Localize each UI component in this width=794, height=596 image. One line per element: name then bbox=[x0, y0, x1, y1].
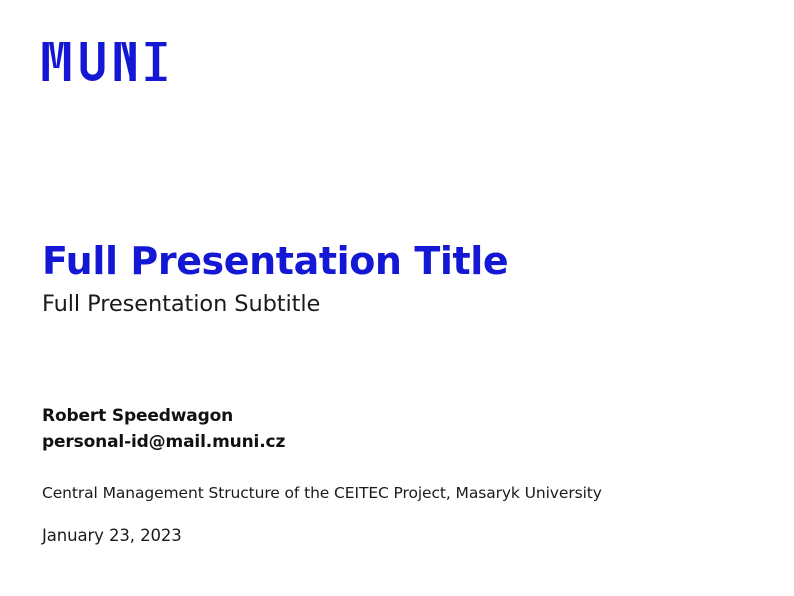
affiliation-line: Central Management Structure of the CEIT… bbox=[42, 483, 742, 503]
author-email: personal-id@mail.muni.cz bbox=[42, 430, 742, 456]
presentation-date: January 23, 2023 bbox=[42, 525, 742, 546]
muni-logo bbox=[42, 42, 182, 84]
presenter-meta-block: Robert Speedwagon personal-id@mail.muni.… bbox=[42, 404, 742, 546]
title-block: Full Presentation Title Full Presentatio… bbox=[42, 240, 742, 318]
title-slide: Full Presentation Title Full Presentatio… bbox=[0, 0, 794, 596]
muni-logo-icon bbox=[42, 42, 182, 84]
author-name: Robert Speedwagon bbox=[42, 404, 742, 430]
page-subtitle: Full Presentation Subtitle bbox=[42, 291, 742, 318]
page-title: Full Presentation Title bbox=[42, 240, 742, 283]
